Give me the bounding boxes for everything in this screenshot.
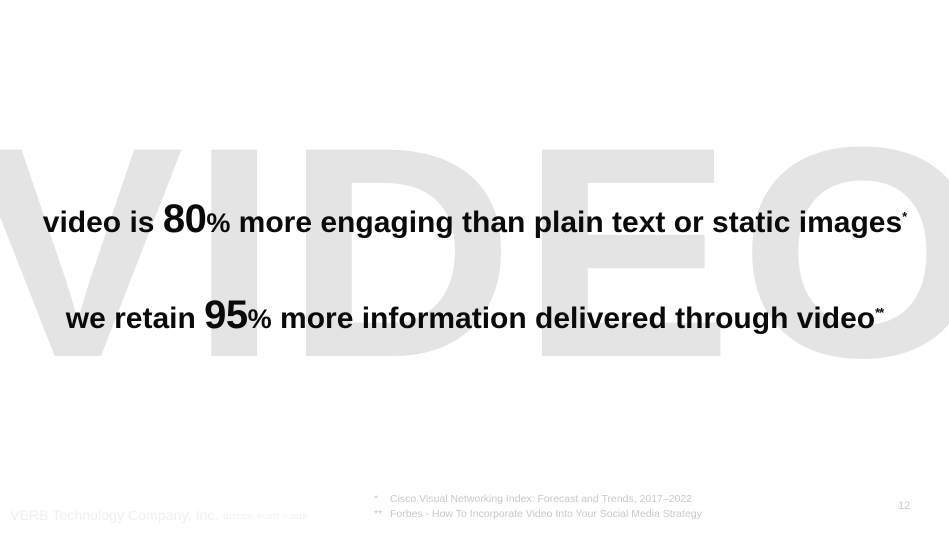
statement-2-reference-mark: ** xyxy=(875,305,883,320)
statement-2-prefix: we retain xyxy=(66,302,204,335)
statement-1-number: 80 xyxy=(163,197,207,241)
footnote-1-text: Cisco Visual Networking Index: Forecast … xyxy=(390,493,692,505)
statement-1-percent: % xyxy=(206,208,230,238)
footnote-row-1: *Cisco Visual Networking Index: Forecast… xyxy=(374,492,702,507)
footnote-2-mark: ** xyxy=(374,507,390,522)
company-ticker-copyright: (OTCQB: FUSZ) © 2019 xyxy=(223,512,307,521)
statement-1-suffix: more engaging than plain text or static … xyxy=(230,206,902,239)
statement-2-percent: % xyxy=(248,304,272,334)
statement-line-1: video is 80% more engaging than plain te… xyxy=(0,198,949,242)
footnote-row-2: **Forbes - How To Incorporate Video Into… xyxy=(374,507,702,522)
presentation-slide: VIDEO video is 80% more engaging than pl… xyxy=(0,0,949,533)
statement-1-prefix: video is xyxy=(43,206,163,239)
footnotes-block: *Cisco Visual Networking Index: Forecast… xyxy=(374,492,702,522)
statement-line-2: we retain 95% more information delivered… xyxy=(0,294,949,338)
statement-1-reference-mark: * xyxy=(902,209,906,224)
footnote-1-mark: * xyxy=(374,492,390,507)
footnote-2-text: Forbes - How To Incorporate Video Into Y… xyxy=(390,508,702,520)
statements-container: video is 80% more engaging than plain te… xyxy=(0,198,949,338)
company-name: VERB Technology Company, Inc. xyxy=(10,507,219,523)
page-number: 12 xyxy=(898,500,928,512)
statement-2-suffix: more information delivered through video xyxy=(272,302,875,335)
company-footer: VERB Technology Company, Inc. (OTCQB: FU… xyxy=(10,507,307,525)
statement-2-number: 95 xyxy=(204,293,248,337)
